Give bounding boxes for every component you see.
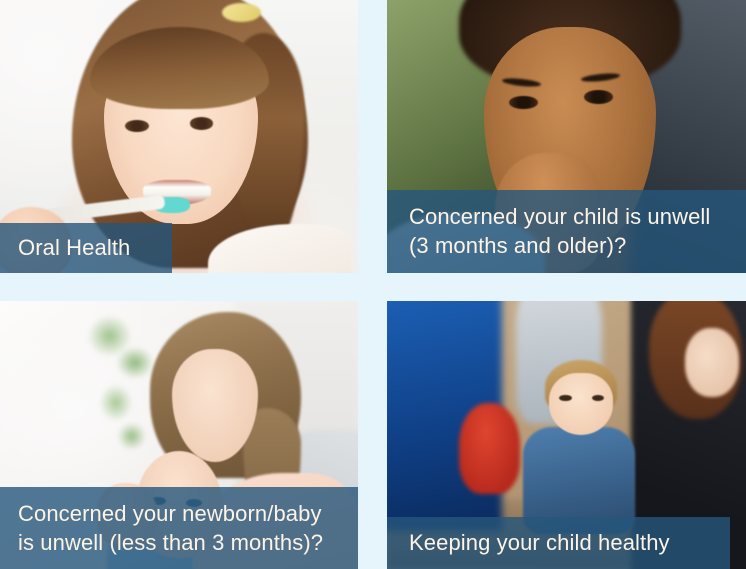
card-caption-keeping-healthy: Keeping your child healthy [387,517,730,569]
eye-right-shape [190,117,213,129]
card-keeping-healthy[interactable]: Keeping your child healthy [387,301,746,569]
red-toy-shape [459,403,520,494]
card-newborn-unwell[interactable]: Concerned your newborn/baby is unwell (l… [0,301,358,569]
card-caption-child-unwell: Concerned your child is unwell (3 months… [387,190,746,273]
card-caption-newborn-unwell: Concerned your newborn/baby is unwell (l… [0,487,358,569]
child-face-shape [549,373,614,435]
card-oral-health[interactable]: Oral Health [0,0,358,273]
card-child-unwell[interactable]: Concerned your child is unwell (3 months… [387,0,746,273]
child-eye-right-shape [592,395,604,401]
card-grid: Oral Health Concerned your child is unwe… [0,0,746,569]
card-caption-oral-health: Oral Health [0,223,172,273]
eye-left-shape [509,96,538,110]
child-eye-left-shape [559,395,571,401]
eye-right-shape [584,90,613,104]
hair-bow-shape [222,3,261,22]
adult-face-shape [685,328,739,398]
